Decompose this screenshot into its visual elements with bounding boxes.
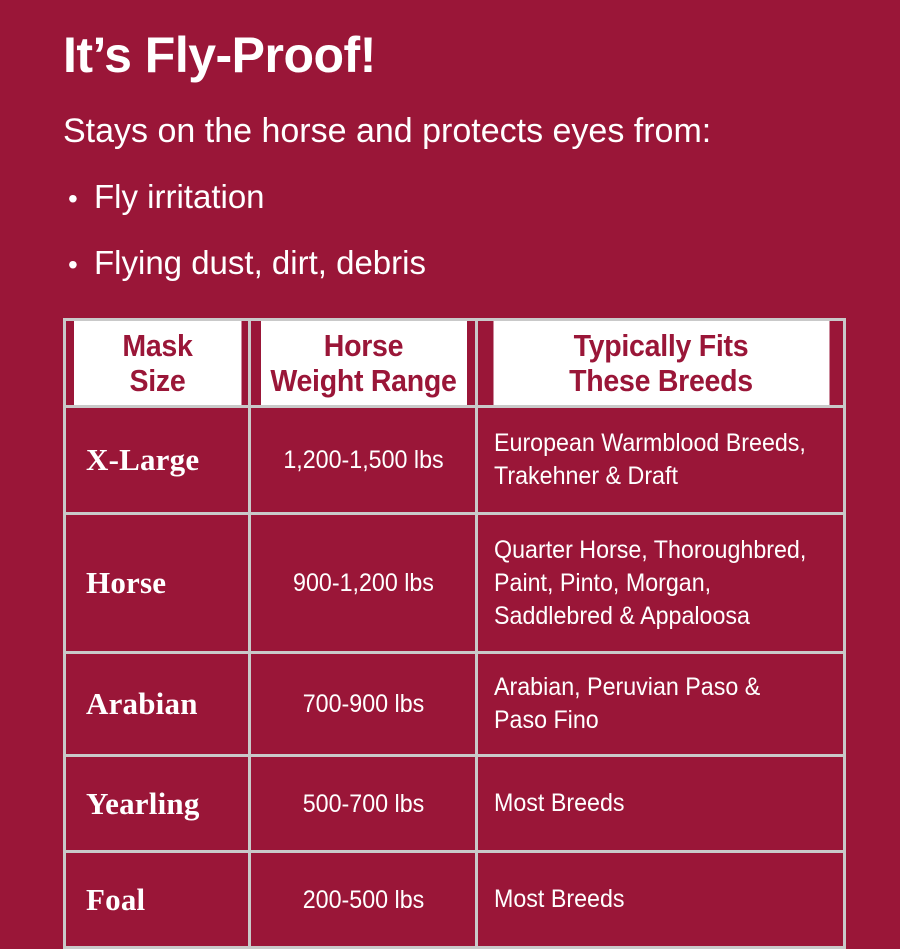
list-item-label: Flying dust, dirt, debris xyxy=(94,244,426,282)
cell-breeds: European Warmblood Breeds, Trakehner & D… xyxy=(477,407,845,514)
breed-line: Paso Fino xyxy=(494,704,809,737)
mask-size-fit-table: Mask Size Horse Weight Range Typically F… xyxy=(63,318,846,949)
table-row: Arabian 700-900 lbs Arabian, Peruvian Pa… xyxy=(65,653,845,756)
breed-line: Most Breeds xyxy=(494,787,809,820)
column-header-line: Mask xyxy=(73,328,240,363)
column-header-line: Weight Range xyxy=(260,363,466,398)
breed-line: Quarter Horse, Thoroughbred, xyxy=(494,534,809,567)
bullet-dot-icon: • xyxy=(68,180,94,218)
cell-mask-size: Arabian xyxy=(65,653,250,756)
list-item-label: Fly irritation xyxy=(94,178,265,216)
breed-line: European Warmblood Breeds, xyxy=(494,427,809,460)
column-header-horse-weight-range: Horse Weight Range xyxy=(259,320,468,407)
cell-breeds: Arabian, Peruvian Paso & Paso Fino xyxy=(477,653,845,756)
cell-weight-range: 900-1,200 lbs xyxy=(257,514,468,653)
breed-line: Trakehner & Draft xyxy=(494,460,809,493)
breed-line: Paint, Pinto, Morgan, xyxy=(494,567,809,600)
column-header-line: Size xyxy=(73,363,240,398)
table-row: Yearling 500-700 lbs Most Breeds xyxy=(65,756,845,852)
column-header-mask-size: Mask Size xyxy=(72,320,242,407)
cell-breeds: Quarter Horse, Thoroughbred, Paint, Pint… xyxy=(477,514,845,653)
benefit-bullet-list: • Fly irritation • Flying dust, dirt, de… xyxy=(68,178,868,310)
subheading: Stays on the horse and protects eyes fro… xyxy=(63,110,711,152)
table-row: Horse 900-1,200 lbs Quarter Horse, Thoro… xyxy=(65,514,845,653)
column-header-typically-fits-these-breeds: Typically Fits These Breeds xyxy=(491,320,830,407)
table-row: X-Large 1,200-1,500 lbs European Warmblo… xyxy=(65,407,845,514)
table-header-row: Mask Size Horse Weight Range Typically F… xyxy=(65,320,845,407)
list-item: • Fly irritation xyxy=(68,178,868,218)
column-header-line: Horse xyxy=(260,328,466,363)
list-item: • Flying dust, dirt, debris xyxy=(68,244,868,284)
promo-panel: It’s Fly-Proof! Stays on the horse and p… xyxy=(0,0,900,900)
cell-weight-range: 700-900 lbs xyxy=(257,653,468,756)
column-header-line: These Breeds xyxy=(493,363,829,398)
cell-mask-size: X-Large xyxy=(65,407,250,514)
cell-weight-range: 500-700 lbs xyxy=(257,756,468,852)
page-title: It’s Fly-Proof! xyxy=(63,26,376,84)
column-header-line: Typically Fits xyxy=(493,328,829,363)
cell-weight-range: 1,200-1,500 lbs xyxy=(257,407,468,514)
cell-mask-size: Horse xyxy=(65,514,250,653)
breed-line: Arabian, Peruvian Paso & xyxy=(494,671,809,704)
cell-breeds: Most Breeds xyxy=(477,756,845,852)
breed-line: Saddlebred & Appaloosa xyxy=(494,600,809,633)
cell-mask-size: Yearling xyxy=(65,756,250,852)
bullet-dot-icon: • xyxy=(68,246,94,284)
